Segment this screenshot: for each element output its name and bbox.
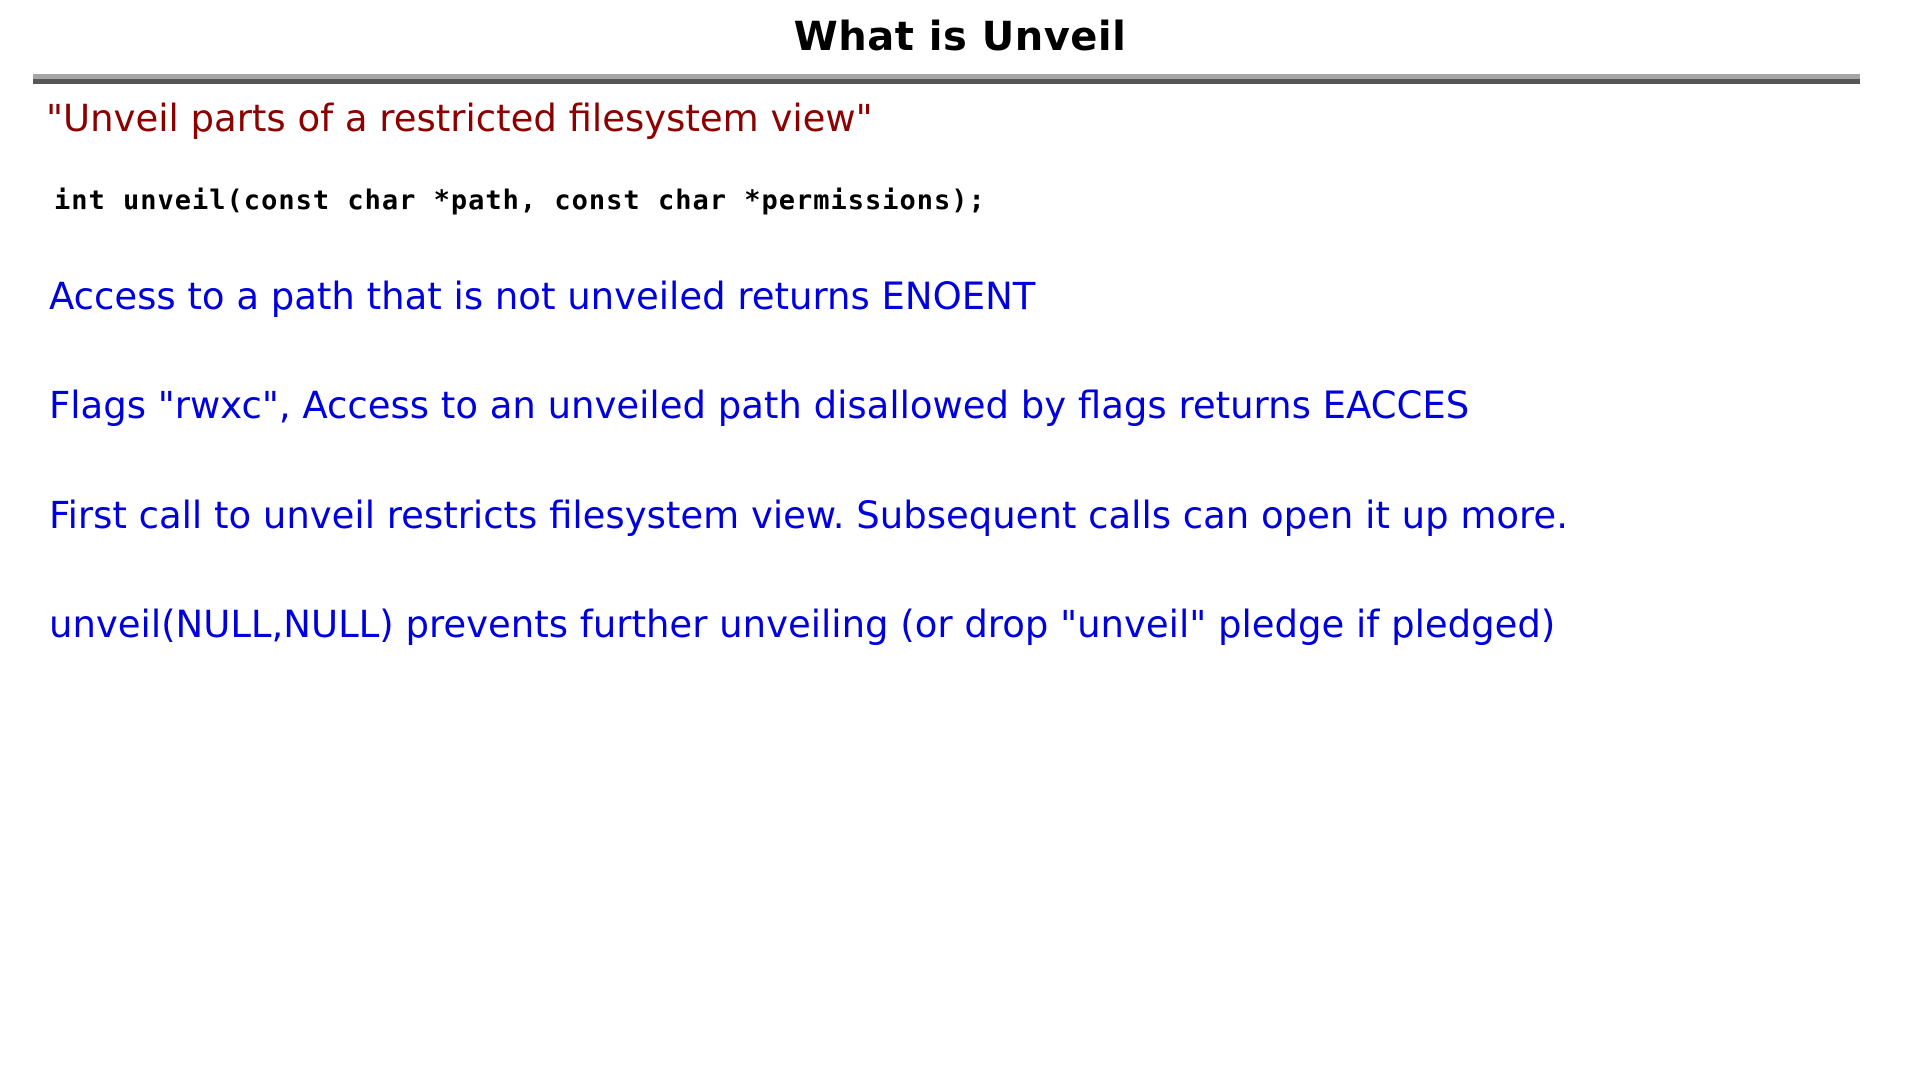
code-signature: int unveil(const char *path, const char …: [54, 184, 986, 218]
bullet-point-2: Flags "rwxc", Access to an unveiled path…: [49, 383, 1469, 429]
definition-quote: "Unveil parts of a restricted filesystem…: [46, 96, 873, 142]
title-divider-rule: [33, 74, 1860, 84]
bullet-point-3: First call to unveil restricts filesyste…: [49, 493, 1568, 539]
slide-body: "Unveil parts of a restricted filesystem…: [0, 84, 1920, 1080]
page-title: What is Unveil: [0, 12, 1920, 62]
presentation-slide: What is Unveil "Unveil parts of a restri…: [0, 0, 1920, 1080]
bullet-point-1: Access to a path that is not unveiled re…: [49, 274, 1035, 320]
bullet-point-4: unveil(NULL,NULL) prevents further unvei…: [49, 602, 1555, 648]
